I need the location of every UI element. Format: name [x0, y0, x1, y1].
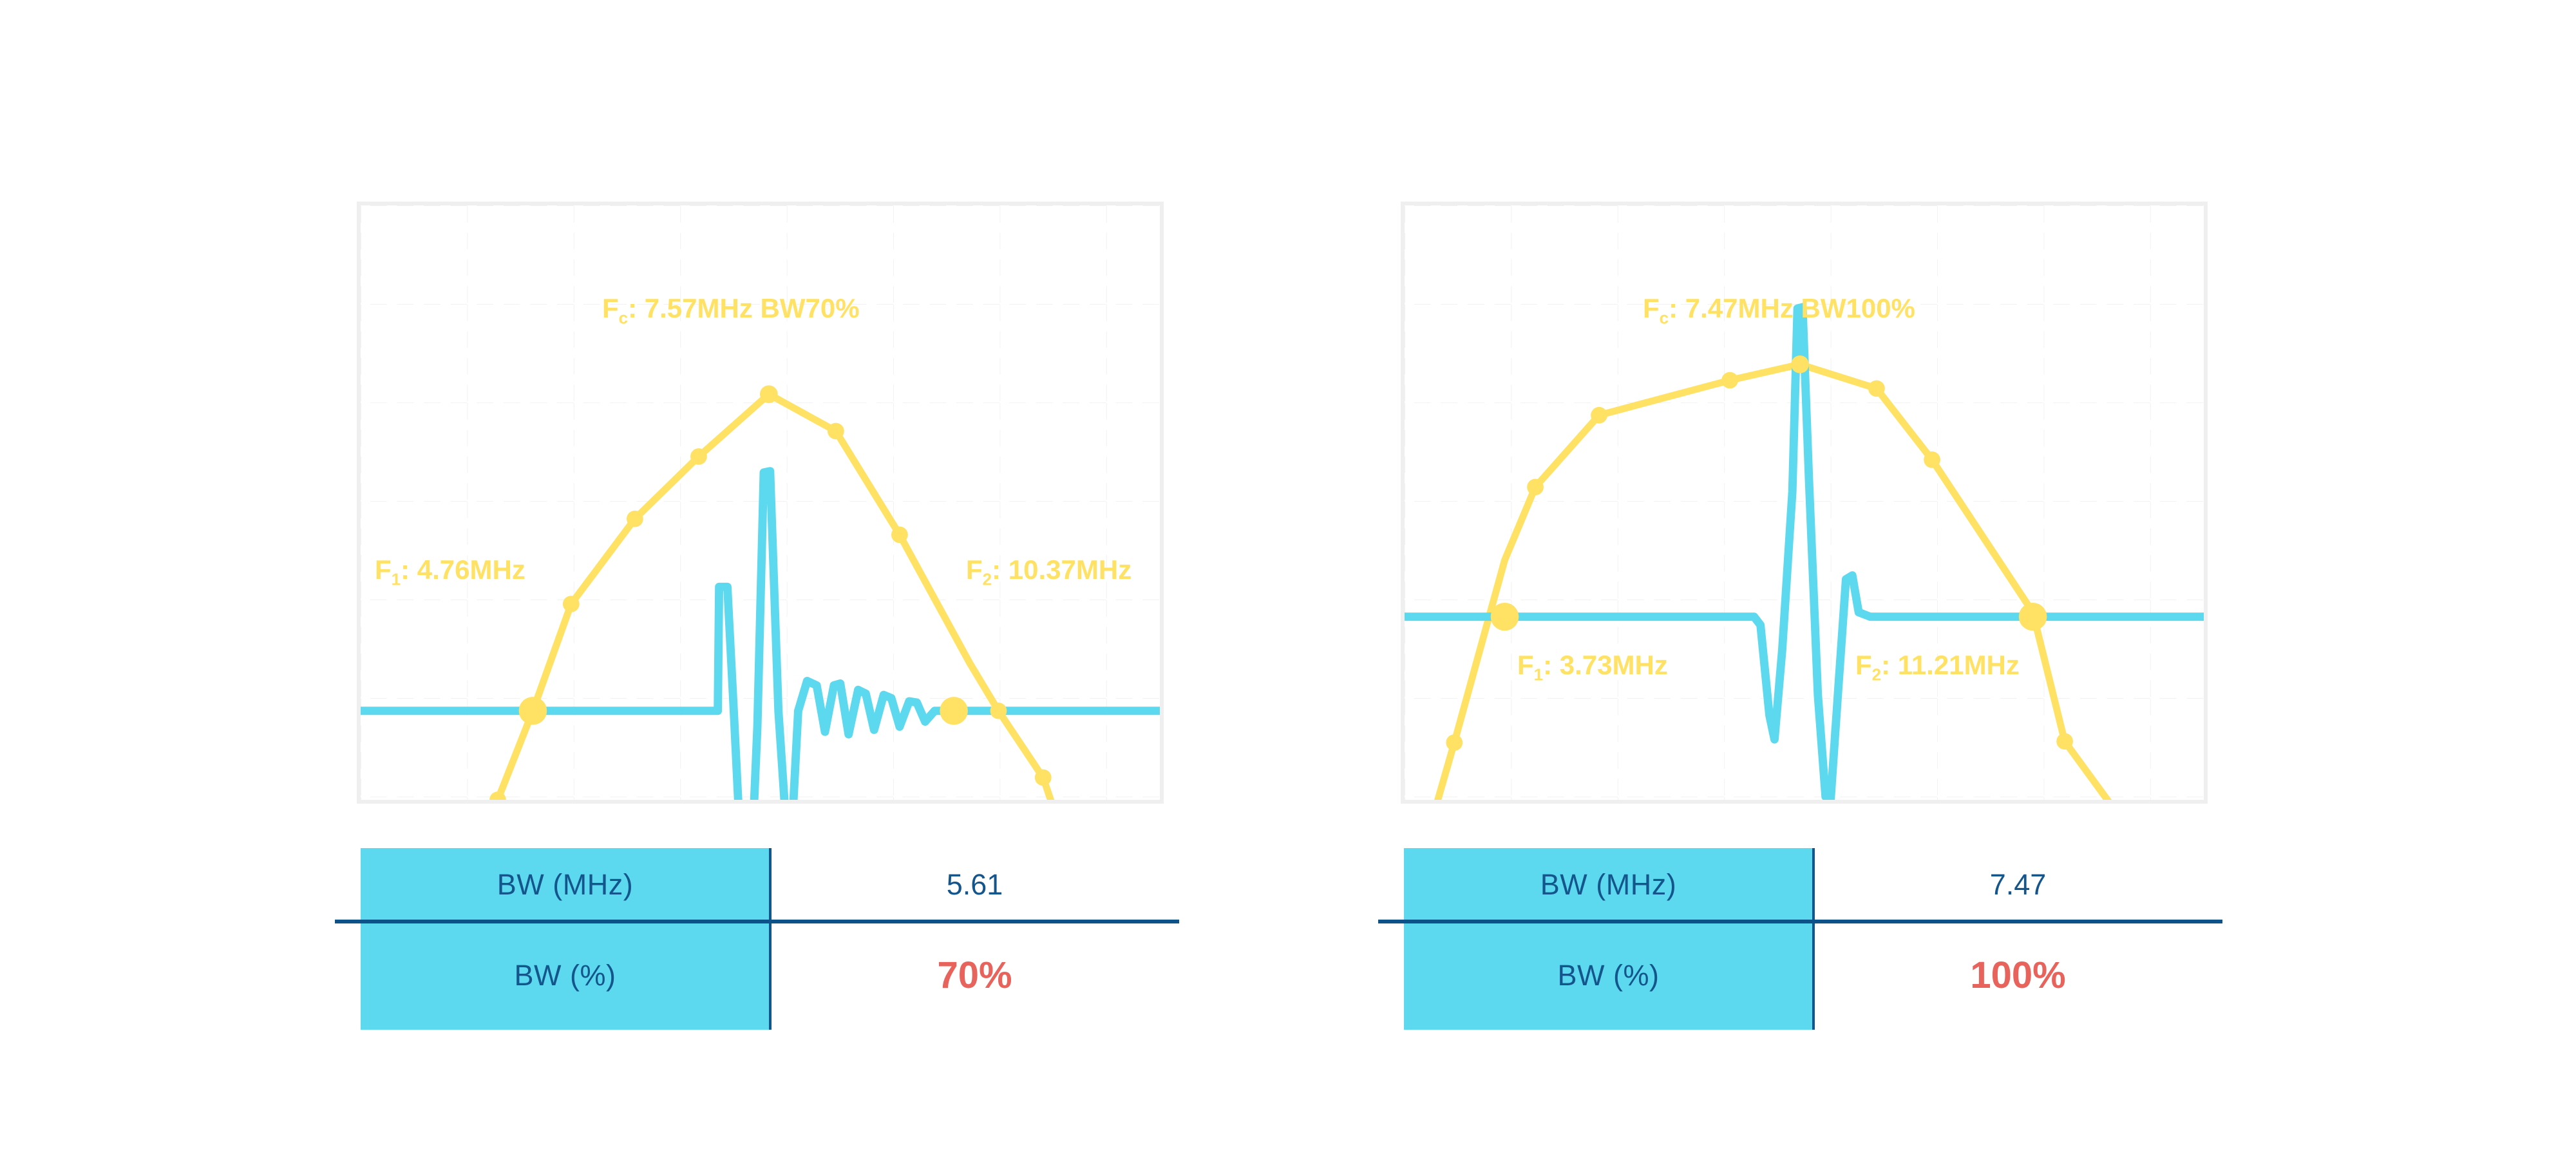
table-vertical-divider	[769, 848, 772, 1030]
table-row: BW (MHz)	[1404, 848, 1813, 921]
annotation-f2-subscript: 2	[983, 569, 992, 589]
annotation-f2-subscript: 2	[1872, 665, 1881, 684]
annotation-f1-text: : 4.76MHz	[401, 554, 526, 585]
annotation-f2: F2: 10.37MHz	[966, 554, 1132, 589]
marker-f2[interactable]	[2019, 603, 2047, 630]
bw-percent-label: BW (%)	[1558, 959, 1660, 992]
marker-f2[interactable]	[940, 697, 968, 724]
marker-fc[interactable]	[1791, 355, 1809, 374]
bw-mhz-value: 7.47	[1990, 868, 2047, 902]
annotation-fc-subscript: c	[619, 308, 628, 327]
result-table-right: BW (MHz) 7.47 BW (%) 100%	[1404, 848, 2223, 1030]
annotation-f1-subscript: 1	[1534, 665, 1543, 684]
table-row: 5.61	[770, 848, 1180, 921]
marker-f1[interactable]	[1491, 603, 1519, 630]
annotation-f1-symbol: F	[375, 554, 392, 585]
table-row: 100%	[1813, 921, 2223, 1030]
annotation-fc-symbol: F	[1643, 293, 1660, 323]
page-root: Fc: 7.57MHz BW70% F1: 4.76MHz F2: 10.37M…	[0, 0, 2576, 1154]
bw-percent-value: 100%	[1970, 954, 2065, 997]
table-row: BW (MHz)	[361, 848, 770, 921]
bw-mhz-value: 5.61	[947, 868, 1003, 902]
annotation-f2-symbol: F	[966, 554, 983, 585]
table-row: BW (%)	[361, 921, 770, 1030]
table-horizontal-divider	[1378, 920, 2222, 923]
annotation-f2-text: : 10.37MHz	[992, 554, 1132, 585]
chart-frame-left: Fc: 7.57MHz BW70% F1: 4.76MHz F2: 10.37M…	[357, 202, 1164, 804]
table-vertical-divider	[1812, 848, 1815, 1030]
panel-left: Fc: 7.57MHz BW70% F1: 4.76MHz F2: 10.37M…	[357, 202, 1164, 804]
annotation-f1: F1: 4.76MHz	[375, 554, 526, 589]
annotation-f1-symbol: F	[1517, 650, 1534, 680]
annotation-f1-text: : 3.73MHz	[1543, 650, 1668, 680]
marker-f1[interactable]	[519, 697, 547, 724]
result-table-left: BW (MHz) 5.61 BW (%) 70%	[361, 848, 1180, 1030]
marker-fc[interactable]	[760, 385, 778, 403]
bw-percent-value: 70%	[937, 954, 1012, 997]
table-horizontal-divider	[335, 920, 1179, 923]
annotation-f2-text: : 11.21MHz	[1881, 650, 2020, 680]
annotation-f2-symbol: F	[1855, 650, 1872, 680]
annotation-fc-text: : 7.57MHz BW70%	[628, 293, 859, 323]
table-row: 7.47	[1813, 848, 2223, 921]
annotation-fc-subscript: c	[1660, 308, 1669, 327]
annotation-fc-text: : 7.47MHz BW100%	[1669, 293, 1915, 323]
table-row: BW (%)	[1404, 921, 1813, 1030]
chart-frame-right: Fc: 7.47MHz BW100% F1: 3.73MHz F2: 11.21…	[1401, 202, 2208, 804]
bw-percent-label: BW (%)	[515, 959, 616, 992]
panel-right: Fc: 7.47MHz BW100% F1: 3.73MHz F2: 11.21…	[1401, 202, 2208, 804]
table-row: 70%	[770, 921, 1180, 1030]
bw-mhz-label: BW (MHz)	[497, 868, 633, 902]
annotation-f1-subscript: 1	[392, 569, 401, 589]
annotation-fc: Fc: 7.47MHz BW100%	[1643, 293, 1915, 328]
annotation-fc: Fc: 7.57MHz BW70%	[602, 293, 860, 328]
bw-mhz-label: BW (MHz)	[1540, 868, 1676, 902]
annotation-f2: F2: 11.21MHz	[1855, 650, 2020, 685]
annotation-fc-symbol: F	[602, 293, 619, 323]
annotation-f1: F1: 3.73MHz	[1517, 650, 1668, 685]
